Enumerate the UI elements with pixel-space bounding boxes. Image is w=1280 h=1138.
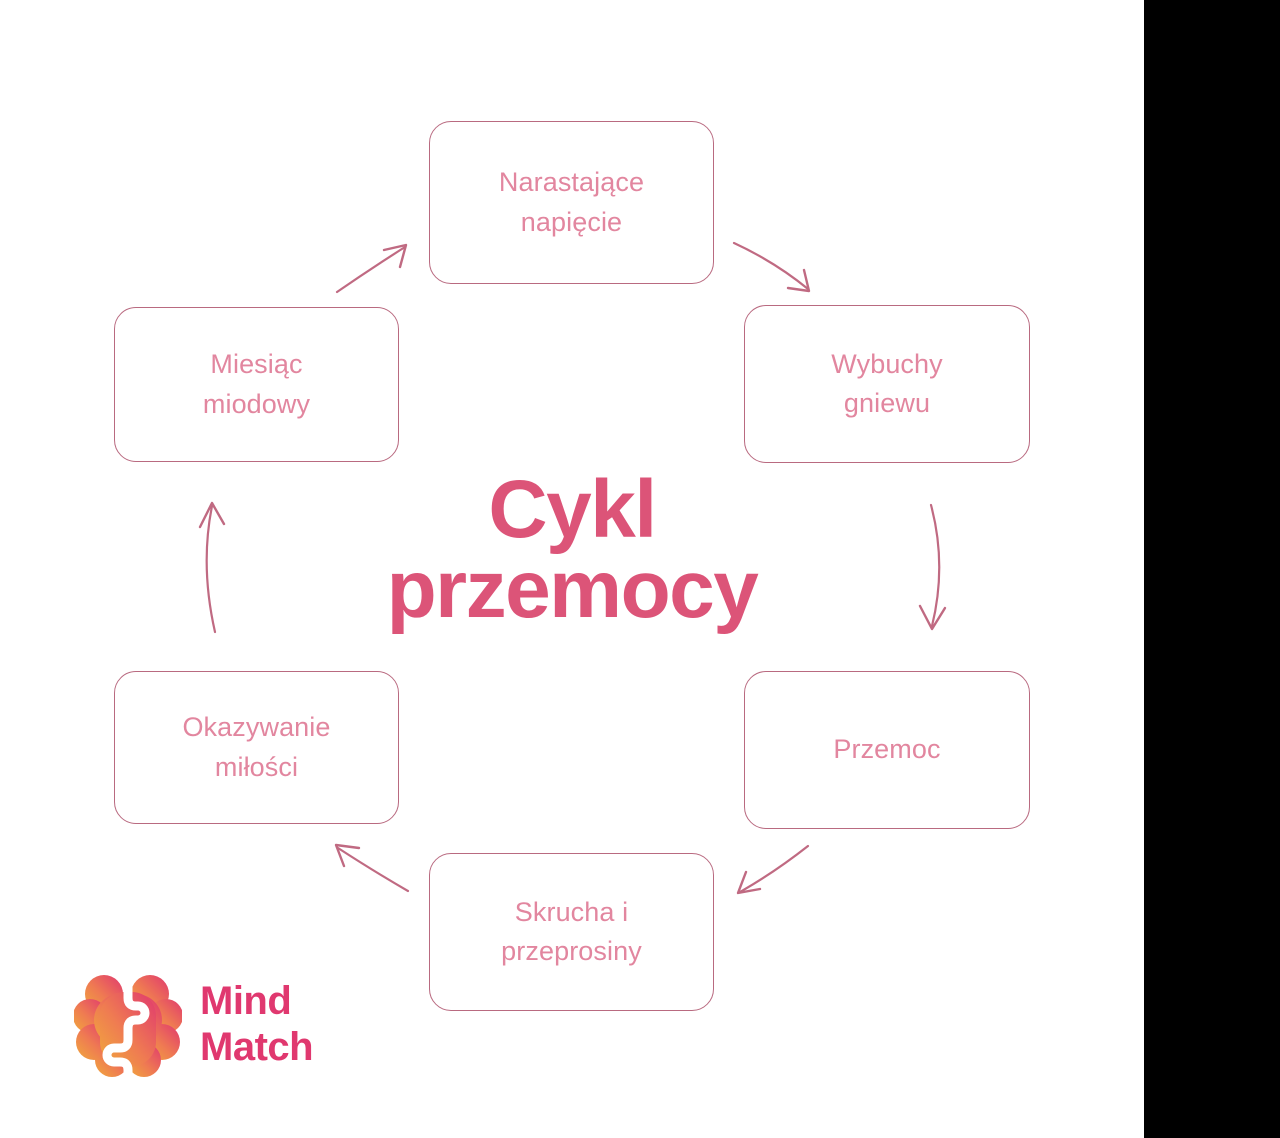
cycle-node-label: Miesiącmiodowy [175, 345, 338, 423]
arrow-violence-to-remorse [738, 846, 808, 893]
cycle-node-label: Przemoc [805, 730, 968, 769]
cycle-node-wybuchy-gniewu[interactable]: Wybuchygniewu [744, 305, 1030, 463]
arrow-honeymoon-to-tension [337, 245, 406, 292]
cycle-node-label-line1: Narastające [485, 163, 658, 202]
arrow-tension-to-anger [734, 243, 809, 291]
arrow-anger-to-violence [920, 505, 945, 629]
cycle-node-label-line1: Przemoc [819, 730, 954, 769]
cycle-node-label: Wybuchygniewu [803, 345, 971, 423]
brand-name-line1: Mind [200, 979, 291, 1023]
cycle-node-label: Okazywaniemiłości [154, 708, 358, 786]
right-black-band [1144, 0, 1280, 1138]
brand-name-line2: Match [200, 1024, 313, 1070]
cycle-node-narastajace-napiecie[interactable]: Narastającenapięcie [429, 121, 714, 284]
brain-puzzle-icon [74, 968, 182, 1080]
cycle-node-label-line1: Miesiąc [189, 345, 324, 384]
cycle-node-okazywanie-milosci[interactable]: Okazywaniemiłości [114, 671, 399, 824]
cycle-node-label-line1: Wybuchy [817, 345, 957, 384]
cycle-node-label-line1: Skrucha i [487, 893, 656, 932]
cycle-node-label: Skrucha iprzeprosiny [473, 893, 670, 971]
cycle-node-przemoc[interactable]: Przemoc [744, 671, 1030, 829]
diagram-title-line2: przemocy [322, 550, 822, 630]
diagram-title: Cykl przemocy [322, 470, 822, 631]
cycle-node-miesiac-miodowy[interactable]: Miesiącmiodowy [114, 307, 399, 462]
cycle-node-label-line2: miodowy [189, 385, 324, 424]
brand-logo: Mind Match [74, 968, 313, 1080]
cycle-node-label-line2: gniewu [817, 384, 957, 423]
diagram-title-line1: Cykl [488, 464, 655, 555]
cycle-node-label-line2: przeprosiny [487, 932, 656, 971]
cycle-node-skrucha-i-przeprosiny[interactable]: Skrucha iprzeprosiny [429, 853, 714, 1011]
arrow-remorse-to-affection [336, 845, 408, 891]
poster-canvas: .arrowline { fill:none; stroke:#c06a82; … [0, 0, 1280, 1138]
cycle-diagram: .arrowline { fill:none; stroke:#c06a82; … [0, 0, 1144, 1138]
cycle-node-label: Narastającenapięcie [471, 163, 672, 241]
cycle-node-label-line2: miłości [168, 748, 344, 787]
cycle-node-label-line1: Okazywanie [168, 708, 344, 747]
cycle-node-label-line2: napięcie [485, 203, 658, 242]
arrow-affection-to-honeymoon [200, 503, 224, 632]
brand-name: Mind Match [200, 978, 313, 1071]
